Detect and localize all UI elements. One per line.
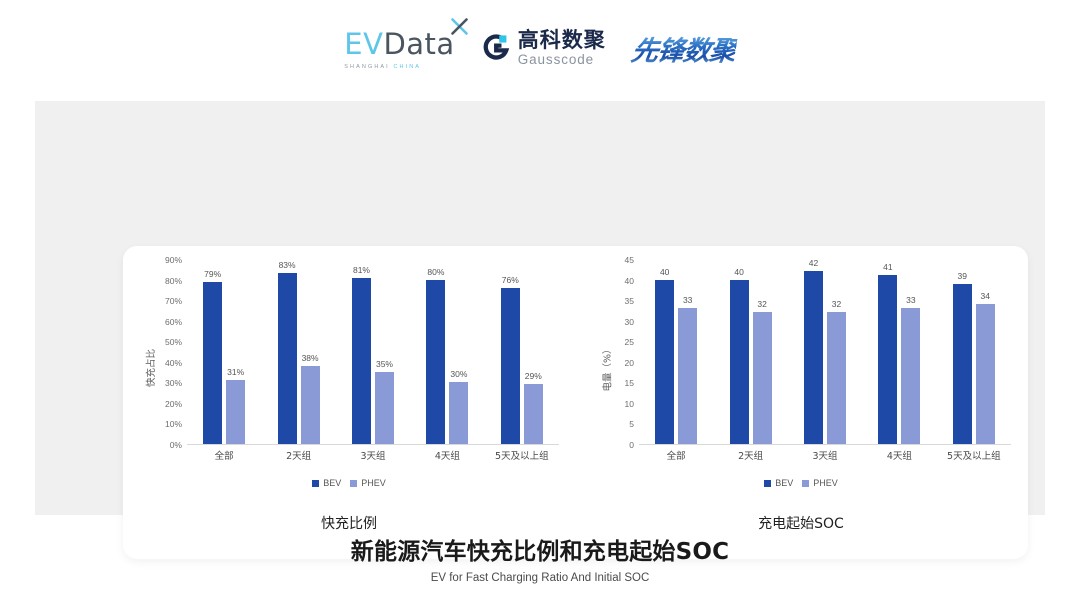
bar-value-label: 79% [204,269,221,279]
y-tick-label: 20 [625,358,634,368]
x-tick-label: 全部 [215,448,234,462]
bar-value-label: 35% [376,359,393,369]
bar-bev[interactable]: 39 [953,259,972,444]
logo-bar: EV Data SHANGHAI CHINA [0,22,1080,74]
bar-group: 4232 [788,259,862,444]
legend-swatch-icon [312,480,319,487]
page-title: 新能源汽车快充比例和充电起始SOC [0,532,1080,566]
footer-titles: 新能源汽车快充比例和充电起始SOC EV for Fast Charging R… [0,532,1080,584]
y-tick-label: 70% [165,296,182,306]
legend-label: PHEV [813,478,838,488]
gausscode-circle-icon [481,33,511,63]
legend-item-bev[interactable]: BEV [764,478,793,488]
x-tick-label: 2天组 [286,448,311,462]
bar-value-label: 40 [660,267,669,277]
chart-plot-area: 快充占比0%10%20%30%40%50%60%70%80%90%79%31%8… [123,260,575,475]
bar-group: 3934 [937,259,1011,444]
bar-value-label: 76% [502,275,519,285]
bar-rect [827,312,846,444]
y-tick-label: 0% [170,440,182,450]
bar-rect [804,271,823,444]
bar-value-label: 81% [353,265,370,275]
bar-rect [901,308,920,444]
bar-value-label: 38% [302,353,319,363]
x-tick-label: 3天组 [360,448,385,462]
bar-rect [426,280,445,444]
chart-legend: BEVPHEV [123,478,575,488]
evdata-ev-text: EV [344,27,383,61]
bar-phev[interactable]: 32 [827,259,846,444]
bar-value-label: 42 [809,258,818,268]
bar-value-label: 40 [734,267,743,277]
legend-swatch-icon [764,480,771,487]
bar-value-label: 30% [450,369,467,379]
x-tick-label: 4天组 [435,448,460,462]
slide-root: EV Data SHANGHAI CHINA [0,0,1080,608]
bar-phev[interactable]: 32 [753,259,772,444]
y-tick-label: 30 [625,317,634,327]
bar-group: 76%29% [485,259,559,444]
content-panel: 快充占比0%10%20%30%40%50%60%70%80%90%79%31%8… [35,101,1045,515]
x-tick-label: 全部 [667,448,686,462]
bar-value-label: 31% [227,367,244,377]
bar-phev[interactable]: 34 [976,259,995,444]
bar-value-label: 41 [883,262,892,272]
y-tick-label: 80% [165,276,182,286]
bar-bev[interactable]: 41 [878,259,897,444]
evdata-wordmark: EV Data [344,27,454,61]
y-tick-label: 10% [165,419,182,429]
bar-rect [449,382,468,444]
evdata-data-text: Data [383,27,454,61]
y-tick-label: 0 [629,440,634,450]
y-tick-label: 20% [165,399,182,409]
bar-value-label: 32 [832,299,841,309]
bar-rect [375,372,394,444]
y-tick-label: 25 [625,337,634,347]
bar-rect [226,380,245,444]
chart-legend: BEVPHEV [575,478,1027,488]
gausscode-logo: 高科数聚 Gausscode [481,30,606,67]
bar-rect [352,278,371,445]
bar-rect [203,282,222,444]
x-axis-labels: 全部2天组3天组4天组5天及以上组 [639,448,1011,466]
bars-container: 79%31%83%38%81%35%80%30%76%29% [187,260,559,445]
bar-rect [301,366,320,444]
bar-phev[interactable]: 29% [524,259,543,444]
bar-value-label: 33 [683,295,692,305]
bar-phev[interactable]: 38% [301,259,320,444]
bar-group: 4133 [862,259,936,444]
bar-phev[interactable]: 33 [678,259,697,444]
bar-value-label: 29% [525,371,542,381]
bar-group: 4033 [639,259,713,444]
legend-swatch-icon [802,480,809,487]
bar-group: 83%38% [261,259,335,444]
y-axis-ticks: 051015202530354045 [597,260,637,445]
legend-item-phev[interactable]: PHEV [350,478,386,488]
y-tick-label: 30% [165,378,182,388]
bars-container: 40334032423241333934 [639,260,1011,445]
y-tick-label: 40 [625,276,634,286]
y-tick-label: 40% [165,358,182,368]
chart-plot-area: 电量（%）05101520253035404540334032423241333… [575,260,1027,475]
bar-bev[interactable]: 76% [501,259,520,444]
bar-group: 80%30% [410,259,484,444]
bar-bev[interactable]: 80% [426,259,445,444]
charts-card: 快充占比0%10%20%30%40%50%60%70%80%90%79%31%8… [123,246,1028,559]
y-tick-label: 15 [625,378,634,388]
chart-initial-soc: 电量（%）05101520253035404540334032423241333… [575,246,1027,559]
bar-rect [953,284,972,444]
evdata-tagline-country: CHINA [393,64,421,70]
page-subtitle: EV for Fast Charging Ratio And Initial S… [0,572,1080,584]
bar-bev[interactable]: 42 [804,259,823,444]
legend-label: PHEV [361,478,386,488]
bar-bev[interactable]: 40 [655,259,674,444]
bar-group: 4032 [713,259,787,444]
bar-value-label: 39 [958,271,967,281]
gausscode-cn-name: 高科数聚 [518,30,606,51]
gausscode-text: 高科数聚 Gausscode [518,30,606,67]
bar-value-label: 32 [757,299,766,309]
y-tick-label: 45 [625,255,634,265]
legend-item-bev[interactable]: BEV [312,478,341,488]
x-axis-labels: 全部2天组3天组4天组5天及以上组 [187,448,559,466]
bar-bev[interactable]: 79% [203,259,222,444]
bar-rect [878,275,897,444]
y-tick-label: 50% [165,337,182,347]
bar-rect [976,304,995,444]
x-cross-icon [451,18,468,35]
bar-value-label: 83% [279,260,296,270]
bar-bev[interactable]: 83% [278,259,297,444]
evdata-tagline-city: SHANGHAI [344,64,390,70]
legend-label: BEV [775,478,793,488]
bar-phev[interactable]: 35% [375,259,394,444]
y-axis-ticks: 0%10%20%30%40%50%60%70%80%90% [145,260,185,445]
x-tick-label: 4天组 [887,448,912,462]
bar-phev[interactable]: 30% [449,259,468,444]
bar-phev[interactable]: 31% [226,259,245,444]
charts-row: 快充占比0%10%20%30%40%50%60%70%80%90%79%31%8… [123,246,1028,559]
y-tick-label: 10 [625,399,634,409]
y-tick-label: 60% [165,317,182,327]
bar-value-label: 33 [906,295,915,305]
bar-rect [524,384,543,444]
bar-phev[interactable]: 33 [901,259,920,444]
bar-bev[interactable]: 40 [730,259,749,444]
bar-value-label: 80% [427,267,444,277]
bar-rect [655,280,674,444]
bar-value-label: 34 [981,291,990,301]
y-tick-label: 90% [165,255,182,265]
bar-bev[interactable]: 81% [352,259,371,444]
x-tick-label: 2天组 [738,448,763,462]
chart-fast-charging-ratio: 快充占比0%10%20%30%40%50%60%70%80%90%79%31%8… [123,246,575,559]
x-tick-label: 5天及以上组 [495,448,549,462]
chart-title: 充电起始SOC [575,513,1027,533]
y-tick-label: 35 [625,296,634,306]
xianfeng-logo: 先锋数聚 [629,29,739,68]
bar-rect [678,308,697,444]
bar-rect [730,280,749,444]
gausscode-en-name: Gausscode [518,53,606,67]
bar-rect [278,273,297,444]
y-tick-label: 5 [629,419,634,429]
x-tick-label: 5天及以上组 [947,448,1001,462]
legend-label: BEV [323,478,341,488]
evdata-logo: EV Data SHANGHAI CHINA [344,27,454,70]
legend-item-phev[interactable]: PHEV [802,478,838,488]
legend-swatch-icon [350,480,357,487]
x-tick-label: 3天组 [812,448,837,462]
bar-rect [753,312,772,444]
bar-rect [501,288,520,444]
evdata-tagline: SHANGHAI CHINA [344,64,421,70]
bar-group: 81%35% [336,259,410,444]
chart-title: 快充比例 [123,513,575,533]
bar-group: 79%31% [187,259,261,444]
